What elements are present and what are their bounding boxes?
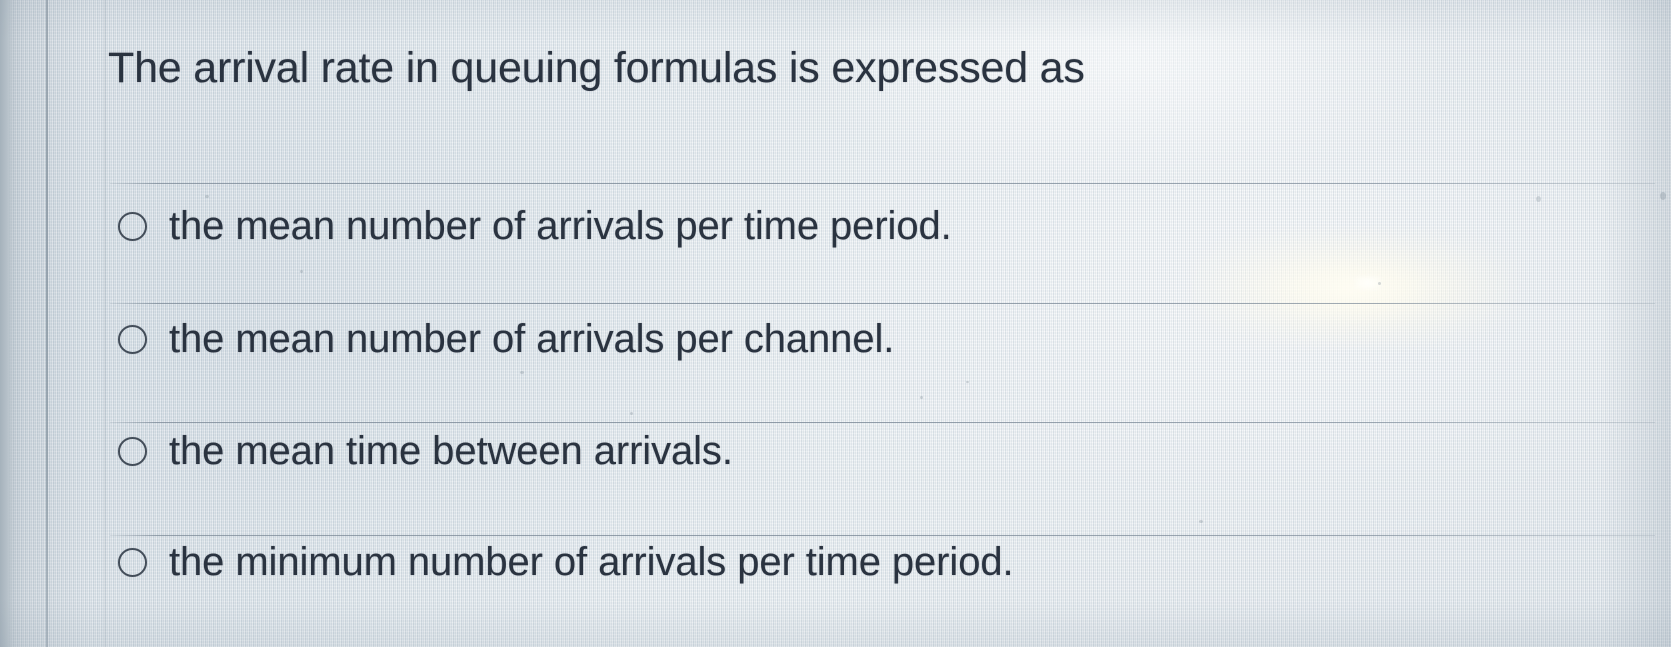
question-text: The arrival rate in queuing formulas is …: [108, 42, 1568, 94]
radio-unselected-icon[interactable]: [118, 548, 147, 577]
answer-option-d-label: the minimum number of arrivals per time …: [169, 539, 1014, 585]
option-separator: [110, 303, 1655, 304]
answer-option-a[interactable]: the mean number of arrivals per time per…: [118, 203, 952, 249]
option-separator: [110, 183, 1655, 184]
quiz-content: The arrival rate in queuing formulas is …: [0, 0, 1671, 647]
answer-option-a-label: the mean number of arrivals per time per…: [169, 203, 952, 249]
radio-unselected-icon[interactable]: [118, 325, 147, 354]
answer-option-d[interactable]: the minimum number of arrivals per time …: [118, 539, 1014, 585]
option-separator: [110, 422, 1655, 423]
option-separator: [110, 535, 1655, 536]
answer-option-b[interactable]: the mean number of arrivals per channel.: [118, 316, 894, 362]
answer-option-c[interactable]: the mean time between arrivals.: [118, 428, 733, 474]
radio-unselected-icon[interactable]: [118, 212, 147, 241]
radio-unselected-icon[interactable]: [118, 437, 147, 466]
answer-option-b-label: the mean number of arrivals per channel.: [169, 316, 894, 362]
quiz-screenshot: The arrival rate in queuing formulas is …: [0, 0, 1671, 647]
answer-option-c-label: the mean time between arrivals.: [169, 428, 733, 474]
